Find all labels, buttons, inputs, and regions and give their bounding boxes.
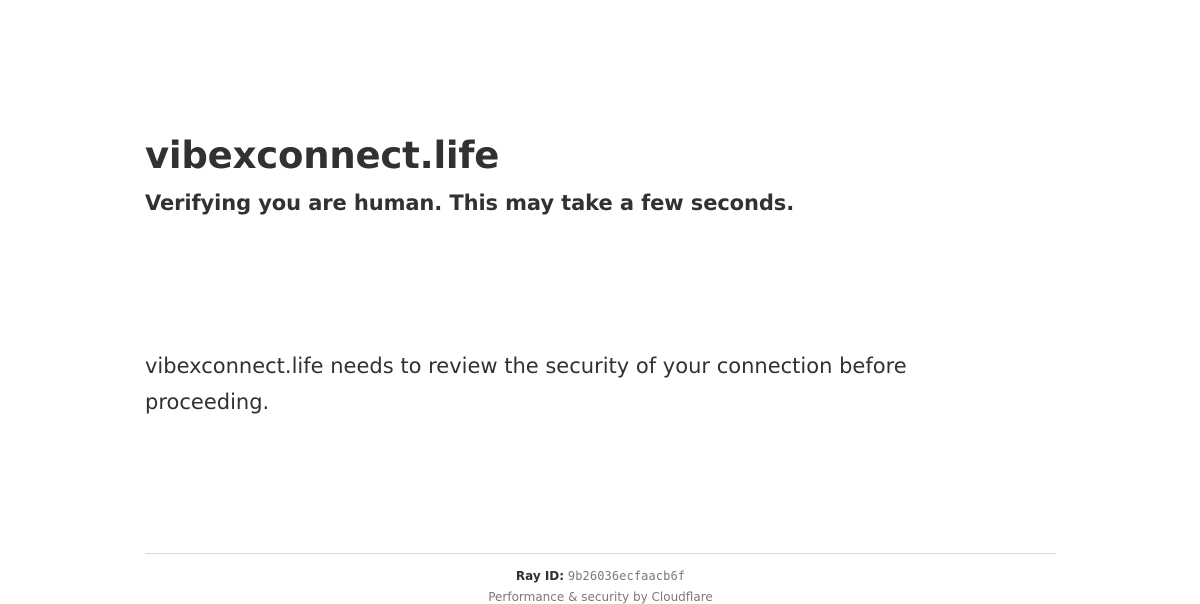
- page-footer: Ray ID: 9b26036ecfaacb6f Performance & s…: [145, 553, 1056, 604]
- ray-id-value: 9b26036ecfaacb6f: [568, 569, 685, 583]
- challenge-content: vibexconnect.life Verifying you are huma…: [145, 0, 1056, 420]
- attribution-prefix: Performance & security by: [488, 590, 651, 604]
- footer-attribution: Performance & security by Cloudflare: [145, 583, 1056, 604]
- turnstile-widget-slot[interactable]: [145, 240, 475, 340]
- page-title: vibexconnect.life: [145, 0, 1056, 179]
- ray-id-label: Ray ID:: [516, 569, 564, 583]
- challenge-description: vibexconnect.life needs to review the se…: [145, 340, 945, 420]
- cloudflare-link[interactable]: Cloudflare: [652, 590, 713, 604]
- footer-content: Ray ID: 9b26036ecfaacb6f Performance & s…: [145, 554, 1056, 604]
- ray-id: Ray ID: 9b26036ecfaacb6f: [145, 569, 1056, 583]
- challenge-page: vibexconnect.life Verifying you are huma…: [0, 0, 1200, 600]
- verification-status-text: Verifying you are human. This may take a…: [145, 179, 1056, 217]
